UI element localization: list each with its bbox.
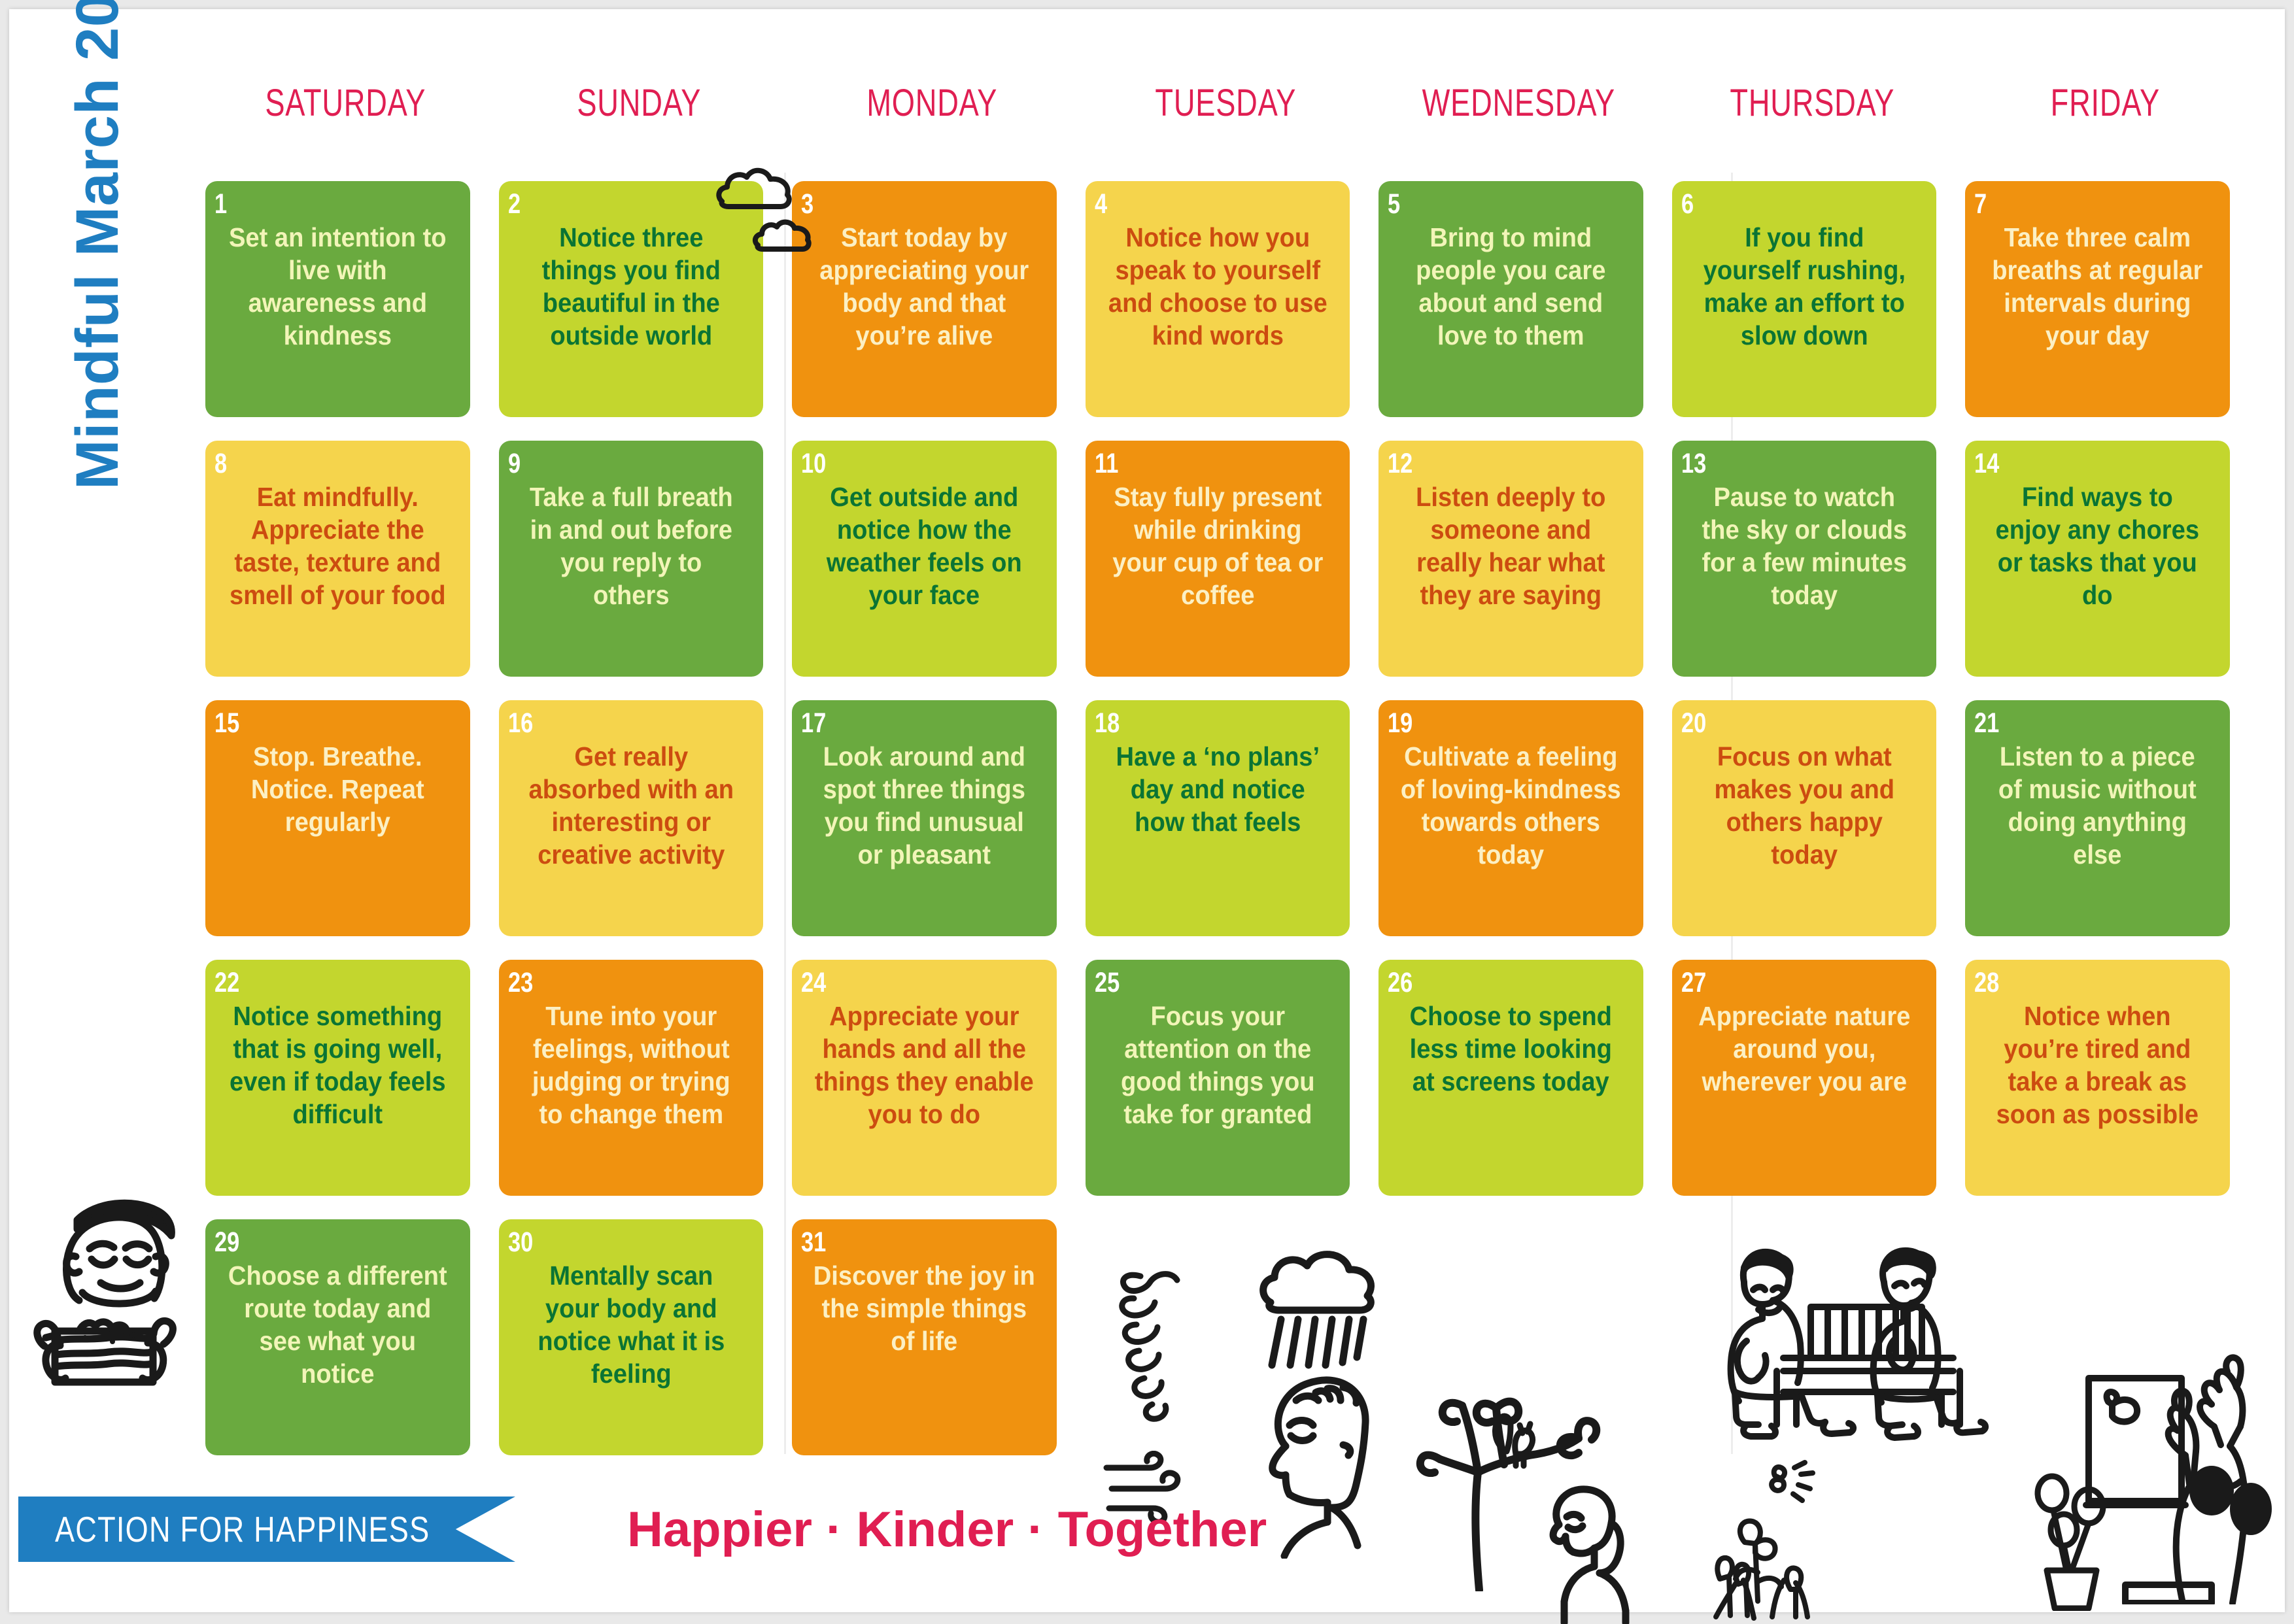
- calendar-cell-wrapper: 3Start today by appreciating your body a…: [785, 176, 1079, 435]
- day-number: 13: [1681, 450, 1878, 478]
- day-action-text: Mentally scan your body and notice what …: [517, 1259, 745, 1449]
- day-cell-27[interactable]: 27Appreciate nature around you, wherever…: [1672, 960, 1937, 1196]
- day-action-text: Choose to spend less time looking at scr…: [1396, 1000, 1625, 1189]
- day-action-text: Tune into your feelings, without judging…: [517, 1000, 745, 1189]
- day-action-text: Start today by appreciating your body an…: [810, 221, 1038, 411]
- day-number: 24: [801, 969, 998, 997]
- calendar-cell-wrapper: 7Take three calm breaths at regular inte…: [1959, 176, 2252, 435]
- day-number: 15: [214, 709, 411, 737]
- day-cell-30[interactable]: 30Mentally scan your body and notice wha…: [499, 1219, 764, 1455]
- day-action-text: Have a ‘no plans’ day and notice how tha…: [1103, 740, 1332, 930]
- day-cell-31[interactable]: 31Discover the joy in the simple things …: [792, 1219, 1057, 1455]
- calendar-cell-wrapper: 22Notice something that is going well, e…: [199, 955, 492, 1214]
- day-action-text: Listen to a piece of music without doing…: [1983, 740, 2212, 930]
- day-number: 31: [801, 1228, 998, 1257]
- calendar-cell-wrapper: 14Find ways to enjoy any chores or tasks…: [1959, 435, 2252, 695]
- child-looking-up-doodle: [1526, 1480, 1644, 1624]
- day-action-text: Look around and spot three things you fi…: [810, 740, 1038, 930]
- calendar-cell-wrapper: 10Get outside and notice how the weather…: [785, 435, 1079, 695]
- calendar-cell-wrapper: 2Notice three things you find beautiful …: [492, 176, 786, 435]
- day-number: 7: [1974, 190, 2171, 218]
- calendar-cell-wrapper: 20Focus on what makes you and others hap…: [1666, 695, 1959, 955]
- day-number: 23: [508, 969, 705, 997]
- two-people-on-bench-doodle: [1706, 1242, 1994, 1444]
- day-header-tuesday: TUESDAY: [1111, 81, 1340, 127]
- day-number: 11: [1095, 450, 1292, 478]
- day-action-text: Focus on what makes you and others happy…: [1690, 740, 1919, 930]
- calendar-cell-wrapper: 1Set an intention to live with awareness…: [199, 176, 492, 435]
- calendar-cell-wrapper: 11Stay fully present while drinking your…: [1079, 435, 1373, 695]
- day-number: 16: [508, 709, 705, 737]
- day-number: 10: [801, 450, 998, 478]
- day-cell-1[interactable]: 1Set an intention to live with awareness…: [205, 181, 470, 417]
- day-number: 17: [801, 709, 998, 737]
- day-number: 12: [1388, 450, 1584, 478]
- day-action-text: Eat mindfully. Appreciate the taste, tex…: [223, 481, 452, 670]
- day-header-thursday: THURSDAY: [1698, 81, 1926, 127]
- calendar-cell-wrapper: 12Listen deeply to someone and really he…: [1372, 435, 1666, 695]
- day-cell-12[interactable]: 12Listen deeply to someone and really he…: [1378, 441, 1643, 677]
- cloud-doodle-small: [751, 215, 813, 256]
- calendar-cell-wrapper: 15Stop. Breathe. Notice. Repeat regularl…: [199, 695, 492, 955]
- day-action-text: Listen deeply to someone and really hear…: [1396, 481, 1625, 670]
- day-action-text: Get outside and notice how the weather f…: [810, 481, 1038, 670]
- tagline: Happier · Kinder · Together: [627, 1498, 1267, 1561]
- bee-and-flowers-doodle: [1709, 1451, 1912, 1621]
- day-cell-20[interactable]: 20Focus on what makes you and others hap…: [1672, 700, 1937, 936]
- page-title: Mindful March 2025: [58, 84, 137, 490]
- day-cell-13[interactable]: 13Pause to watch the sky or clouds for a…: [1672, 441, 1937, 677]
- action-for-happiness-ribbon[interactable]: ACTION FOR HAPPINESS: [18, 1497, 515, 1562]
- calendar-page: Mindful March 2025 SATURDAY SUNDAY MONDA…: [9, 9, 2285, 1612]
- day-cell-8[interactable]: 8Eat mindfully. Appreciate the taste, te…: [205, 441, 470, 677]
- day-cell-9[interactable]: 9Take a full breath in and out before yo…: [499, 441, 764, 677]
- day-number: 18: [1095, 709, 1292, 737]
- day-cell-6[interactable]: 6If you find yourself rushing, make an e…: [1672, 181, 1937, 417]
- calendar-cell-wrapper: 5Bring to mind people you care about and…: [1372, 176, 1666, 435]
- calendar-cell-wrapper: 16Get really absorbed with an interestin…: [492, 695, 786, 955]
- day-cell-26[interactable]: 26Choose to spend less time looking at s…: [1378, 960, 1643, 1196]
- day-action-text: Appreciate your hands and all the things…: [810, 1000, 1038, 1189]
- calendar-cell-wrapper: 17Look around and spot three things you …: [785, 695, 1079, 955]
- day-number: 21: [1974, 709, 2171, 737]
- man-eating-sandwich-doodle: [17, 1186, 194, 1447]
- calendar-cell-wrapper: 30Mentally scan your body and notice wha…: [492, 1214, 786, 1474]
- calendar-cell-wrapper: 18Have a ‘no plans’ day and notice how t…: [1079, 695, 1373, 955]
- day-action-text: Discover the joy in the simple things of…: [810, 1259, 1038, 1449]
- day-action-text: Notice how you speak to yourself and cho…: [1103, 221, 1332, 411]
- day-number: 5: [1388, 190, 1584, 218]
- day-cell-16[interactable]: 16Get really absorbed with an interestin…: [499, 700, 764, 936]
- day-cell-21[interactable]: 21Listen to a piece of music without doi…: [1965, 700, 2230, 936]
- day-action-text: Find ways to enjoy any chores or tasks t…: [1983, 481, 2212, 670]
- wind-swirl-doodle: [1114, 1264, 1206, 1434]
- day-number: 1: [214, 190, 411, 218]
- day-number: 22: [214, 969, 411, 997]
- day-action-text: Stop. Breathe. Notice. Repeat regularly: [223, 740, 452, 930]
- day-action-text: Cultivate a feeling of loving-kindness t…: [1396, 740, 1625, 930]
- day-header-monday: MONDAY: [817, 81, 1046, 127]
- day-cell-29[interactable]: 29Choose a different route today and see…: [205, 1219, 470, 1455]
- calendar-cell-wrapper: 8Eat mindfully. Appreciate the taste, te…: [199, 435, 492, 695]
- day-cell-4[interactable]: 4Notice how you speak to yourself and ch…: [1086, 181, 1350, 417]
- person-stretching-doodle: [2076, 1349, 2272, 1604]
- day-cell-18[interactable]: 18Have a ‘no plans’ day and notice how t…: [1086, 700, 1350, 936]
- day-header-saturday: SATURDAY: [231, 81, 460, 127]
- day-cell-24[interactable]: 24Appreciate your hands and all the thin…: [792, 960, 1057, 1196]
- day-number: 30: [508, 1228, 705, 1257]
- day-cell-23[interactable]: 23Tune into your feelings, without judgi…: [499, 960, 764, 1196]
- calendar-cell-wrapper: 25Focus your attention on the good thing…: [1079, 955, 1373, 1214]
- day-cell-5[interactable]: 5Bring to mind people you care about and…: [1378, 181, 1643, 417]
- day-number: 4: [1095, 190, 1292, 218]
- day-cell-17[interactable]: 17Look around and spot three things you …: [792, 700, 1057, 936]
- day-action-text: Pause to watch the sky or clouds for a f…: [1690, 481, 1919, 670]
- day-number: 27: [1681, 969, 1878, 997]
- day-action-text: If you find yourself rushing, make an ef…: [1690, 221, 1919, 411]
- day-number: 9: [508, 450, 705, 478]
- day-name-header-row: SATURDAY SUNDAY MONDAY TUESDAY WEDNESDAY…: [199, 81, 2252, 127]
- day-number: 25: [1095, 969, 1292, 997]
- day-cell-14[interactable]: 14Find ways to enjoy any chores or tasks…: [1965, 441, 2230, 677]
- day-number: 26: [1388, 969, 1584, 997]
- day-cell-10[interactable]: 10Get outside and notice how the weather…: [792, 441, 1057, 677]
- calendar-cell-wrapper: 9Take a full breath in and out before yo…: [492, 435, 786, 695]
- day-action-text: Get really absorbed with an interesting …: [517, 740, 745, 930]
- day-number: 20: [1681, 709, 1878, 737]
- day-cell-2[interactable]: 2Notice three things you find beautiful …: [499, 181, 764, 417]
- calendar-cell-wrapper: 21Listen to a piece of music without doi…: [1959, 695, 2252, 955]
- day-action-text: Notice three things you find beautiful i…: [517, 221, 745, 411]
- day-number: 2: [508, 190, 705, 218]
- calendar-cell-wrapper: 29Choose a different route today and see…: [199, 1214, 492, 1474]
- calendar-cell-wrapper: 28Notice when you’re tired and take a br…: [1959, 955, 2252, 1214]
- day-header-friday: FRIDAY: [1991, 81, 2220, 127]
- day-header-sunday: SUNDAY: [524, 81, 753, 127]
- day-number: 19: [1388, 709, 1584, 737]
- day-cell-22[interactable]: 22Notice something that is going well, e…: [205, 960, 470, 1196]
- day-number: 6: [1681, 190, 1878, 218]
- day-cell-11[interactable]: 11Stay fully present while drinking your…: [1086, 441, 1350, 677]
- day-cell-3[interactable]: 3Start today by appreciating your body a…: [792, 181, 1057, 417]
- day-number: 28: [1974, 969, 2171, 997]
- day-action-text: Set an intention to live with awareness …: [223, 221, 452, 411]
- calendar-cell-wrapper: 31Discover the joy in the simple things …: [785, 1214, 1079, 1474]
- day-action-text: Take three calm breaths at regular inter…: [1983, 221, 2212, 411]
- day-action-text: Focus your attention on the good things …: [1103, 1000, 1332, 1189]
- day-cell-7[interactable]: 7Take three calm breaths at regular inte…: [1965, 181, 2230, 417]
- calendar-cell-wrapper: 26Choose to spend less time looking at s…: [1372, 955, 1666, 1214]
- day-number: 14: [1974, 450, 2171, 478]
- day-action-text: Appreciate nature around you, wherever y…: [1690, 1000, 1919, 1189]
- calendar-cell-wrapper: 19Cultivate a feeling of loving-kindness…: [1372, 695, 1666, 955]
- cloud-doodle-large: [714, 161, 796, 213]
- calendar-cell-wrapper: 4Notice how you speak to yourself and ch…: [1079, 176, 1373, 435]
- calendar-cell-wrapper: 24Appreciate your hands and all the thin…: [785, 955, 1079, 1214]
- day-number: 8: [214, 450, 411, 478]
- calendar-cell-wrapper: 27Appreciate nature around you, wherever…: [1666, 955, 1959, 1214]
- day-header-wednesday: WEDNESDAY: [1405, 81, 1634, 127]
- brand-label: ACTION FOR HAPPINESS: [55, 1508, 430, 1550]
- calendar-cell-wrapper: 13Pause to watch the sky or clouds for a…: [1666, 435, 1959, 695]
- day-number: 29: [214, 1228, 411, 1257]
- day-cell-19[interactable]: 19Cultivate a feeling of loving-kindness…: [1378, 700, 1643, 936]
- day-action-text: Choose a different route today and see w…: [223, 1259, 452, 1449]
- day-cell-25[interactable]: 25Focus your attention on the good thing…: [1086, 960, 1350, 1196]
- calendar-cell-wrapper: 23Tune into your feelings, without judgi…: [492, 955, 786, 1214]
- calendar-cell-wrapper: 6If you find yourself rushing, make an e…: [1666, 176, 1959, 435]
- day-action-text: Notice when you’re tired and take a brea…: [1983, 1000, 2212, 1189]
- day-action-text: Stay fully present while drinking your c…: [1103, 481, 1332, 670]
- day-action-text: Bring to mind people you care about and …: [1396, 221, 1625, 411]
- day-action-text: Take a full breath in and out before you…: [517, 481, 745, 670]
- day-cell-15[interactable]: 15Stop. Breathe. Notice. Repeat regularl…: [205, 700, 470, 936]
- day-action-text: Notice something that is going well, eve…: [223, 1000, 452, 1189]
- day-cell-28[interactable]: 28Notice when you’re tired and take a br…: [1965, 960, 2230, 1196]
- face-profile-doodle: [1245, 1362, 1395, 1559]
- day-number: 3: [801, 190, 998, 218]
